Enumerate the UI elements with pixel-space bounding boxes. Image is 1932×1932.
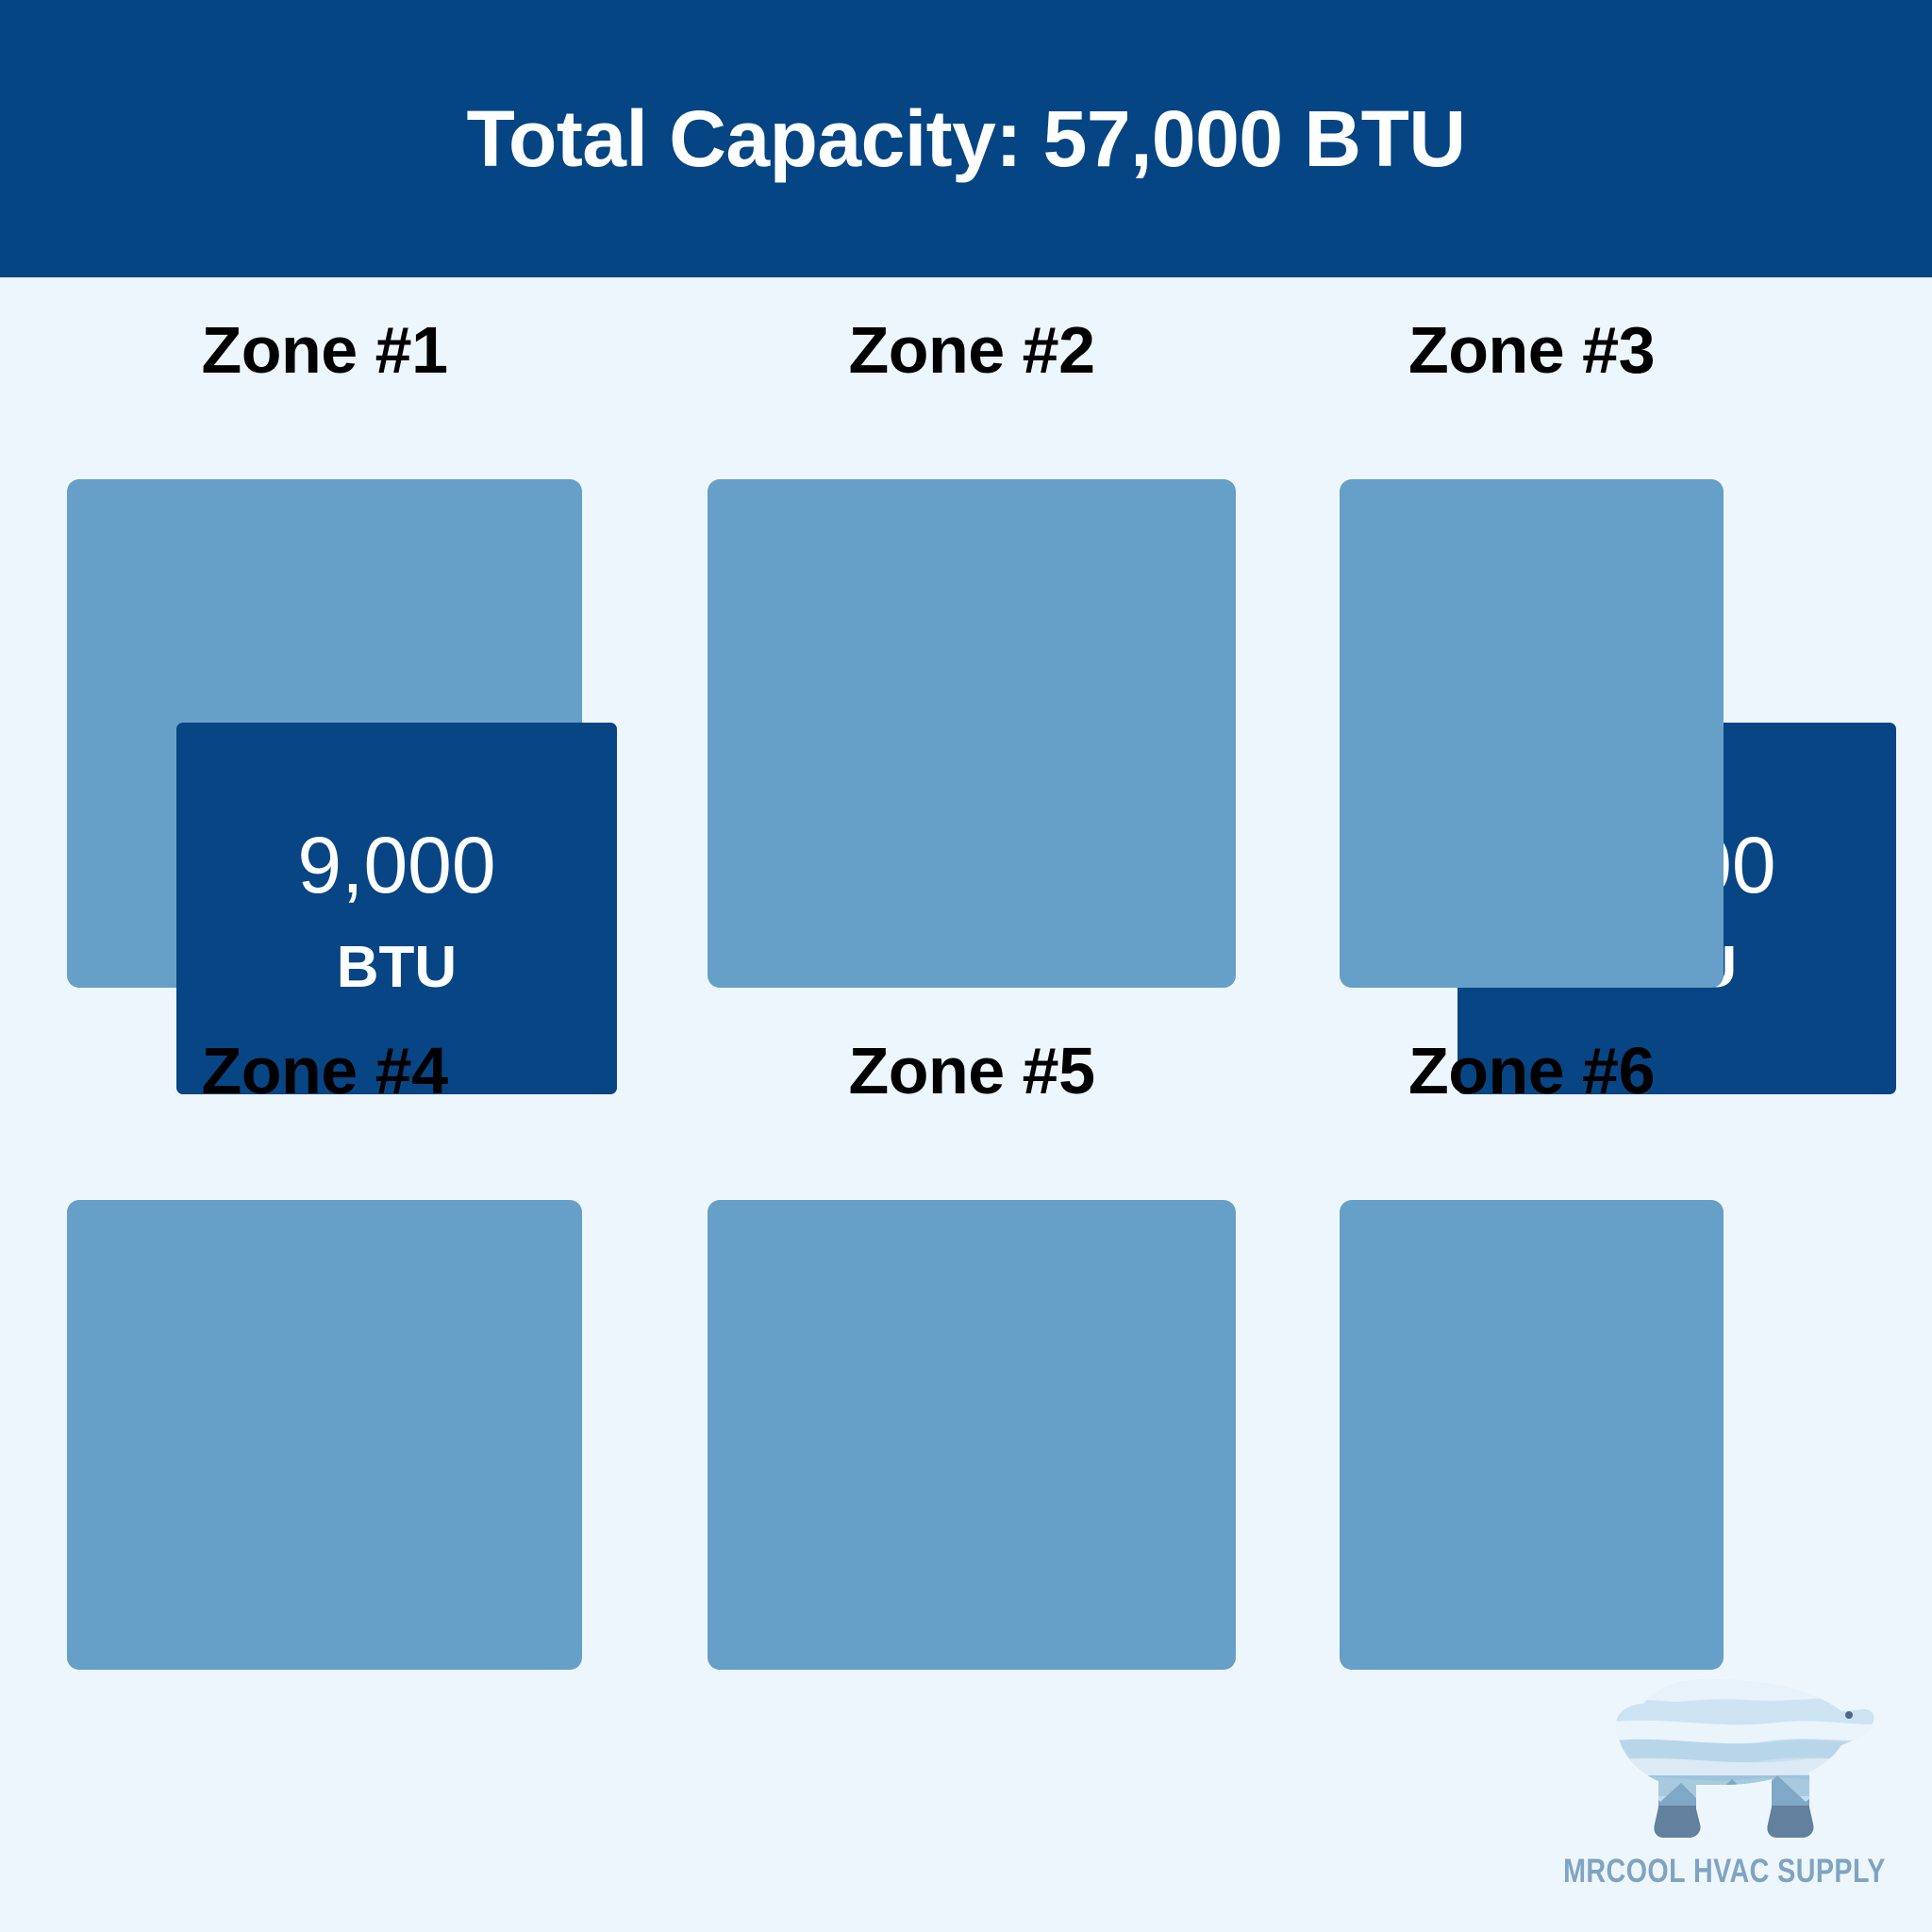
zone-label-5: Zone #5 — [708, 1037, 1236, 1107]
zone-btu-value-1: 9,000 — [297, 825, 495, 905]
brand-name: MRCOOL HVAC SUPPLY — [1563, 1853, 1865, 1890]
zone-label-1: Zone #1 — [67, 316, 582, 386]
zone-card-4[interactable]: 9,000 BTU — [67, 1200, 582, 1670]
zone-card-2[interactable]: 9,000 BTU — [708, 479, 1236, 988]
zone-label-6: Zone #6 — [1340, 1037, 1724, 1107]
zone-grid: Zone #1 9,000 BTU Zone #2 9,000 BTU Zone… — [0, 277, 1932, 1749]
zone-card-3[interactable]: 9,000 BTU — [1340, 479, 1724, 988]
zone-label-4: Zone #4 — [67, 1037, 582, 1107]
header-banner: Total Capacity: 57,000 BTU — [0, 0, 1932, 277]
zone-card-6[interactable]: 12,000 BTU — [1340, 1200, 1724, 1670]
zone-card-5[interactable]: 9,000 BTU — [708, 1200, 1236, 1670]
zone-label-3: Zone #3 — [1340, 316, 1724, 386]
zone-label-2: Zone #2 — [708, 316, 1236, 386]
brand-logo: MRCOOL HVAC SUPPLY — [1530, 1675, 1898, 1911]
zone-btu-unit-1: BTU — [337, 939, 457, 997]
polar-bear-icon — [1530, 1675, 1898, 1855]
page-title: Total Capacity: 57,000 BTU — [466, 99, 1465, 178]
zone-card-1[interactable]: 9,000 BTU — [67, 479, 582, 988]
